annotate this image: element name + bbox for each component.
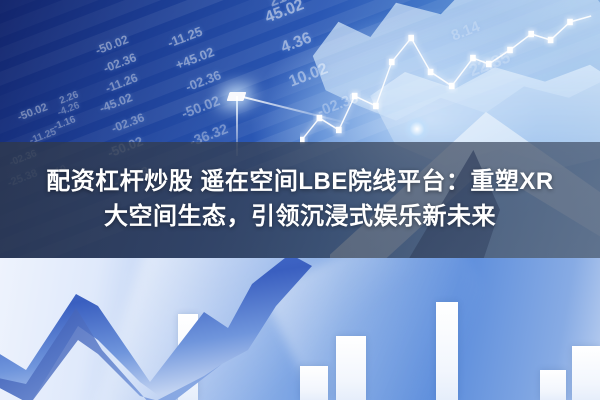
- chart-bar: [572, 346, 600, 400]
- chart-node: [528, 31, 534, 37]
- ticker-number: -45.02: [97, 90, 134, 115]
- chart-node: [567, 19, 573, 25]
- ticker-number: -50.02: [179, 92, 222, 121]
- chart-node: [408, 35, 414, 41]
- light-flare: [404, 116, 430, 142]
- ticker-number: -02.36: [183, 67, 223, 94]
- bottom-graphic-area: [0, 258, 600, 400]
- headline-line-1: 配资杠杆炒股 遥在空间LBE院线平台：重塑XR: [46, 168, 554, 195]
- chart-node: [389, 59, 395, 65]
- chart-node: [449, 83, 455, 89]
- promo-banner: -50.02-11.25-02.36-1.162.26-4.26-50.02-0…: [0, 0, 600, 400]
- ticker-number: -1.16: [52, 114, 77, 132]
- glowing-line-chart: [300, 0, 600, 160]
- chart-bar: [540, 370, 566, 400]
- ticker-number: -50.02: [16, 101, 49, 123]
- chart-node: [470, 55, 476, 61]
- zigzag-arrow-ribbon: [0, 258, 390, 400]
- ticker-number: -02.36: [109, 110, 146, 135]
- headline-overlay-band: 配资杠杆炒股 遥在空间LBE院线平台：重塑XR 大空间生态，引领沉浸式娱乐新未来: [0, 142, 600, 258]
- chart-node: [336, 127, 342, 133]
- headline-line-2: 大空间生态，引领沉浸式娱乐新未来: [46, 200, 554, 235]
- ticker-number: -11.25: [165, 24, 204, 51]
- chart-node: [352, 93, 358, 99]
- chart-node: [428, 69, 434, 75]
- chart-bar: [436, 302, 458, 400]
- ticker-number: +45.02: [173, 44, 216, 72]
- chart-node: [548, 37, 554, 43]
- page-title: 配资杠杆炒股 遥在空间LBE院线平台：重塑XR 大空间生态，引领沉浸式娱乐新未来: [46, 165, 554, 235]
- chart-node: [373, 103, 379, 109]
- chart-node: [486, 61, 492, 67]
- chart-node: [507, 47, 513, 53]
